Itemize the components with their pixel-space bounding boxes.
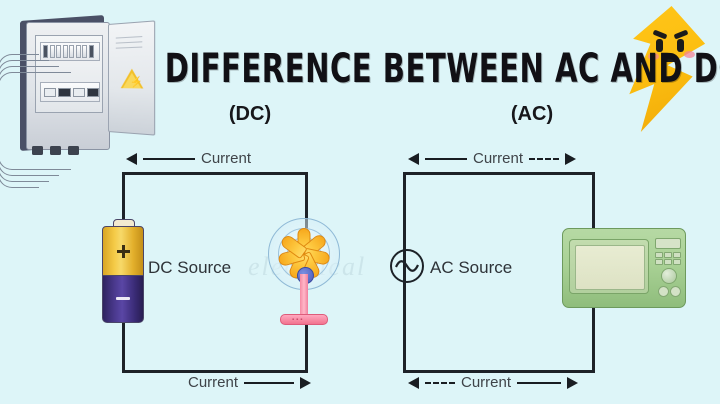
arrow-head-right-icon — [300, 377, 311, 389]
dc-top-current-label: Current — [201, 150, 251, 167]
arrow-head-right-icon — [565, 153, 576, 165]
microwave-dial — [661, 268, 677, 284]
ac-wire-top — [403, 172, 595, 175]
microwave-button — [670, 286, 681, 297]
dc-wire-top — [122, 172, 308, 175]
breaker-row-top — [40, 42, 100, 61]
panel-door: ⚡ — [108, 20, 155, 135]
dc-battery — [102, 219, 144, 323]
ac-source-label: AC Source — [430, 258, 512, 278]
dc-top-current-arrow: Current — [126, 150, 251, 167]
dc-bottom-current-arrow: Current — [188, 374, 311, 391]
microwave-control-panel — [655, 238, 681, 298]
arrow-line-dashed — [425, 382, 455, 384]
electrical-distribution-panel-illustration: ⚡ — [4, 8, 154, 198]
dc-section-label: (DC) — [150, 103, 350, 126]
battery-plus-icon — [117, 245, 130, 258]
arrow-line — [143, 158, 195, 160]
conduit-pipe — [0, 72, 71, 170]
microwave-keypad — [655, 252, 681, 265]
arrow-head-left-icon — [408, 153, 419, 165]
battery-minus-icon — [116, 297, 130, 300]
fan-stand — [300, 274, 308, 318]
arrow-head-left-icon — [408, 377, 419, 389]
fan-base-controls: ▪▪▪ — [292, 317, 304, 323]
arrow-head-right-icon — [567, 377, 578, 389]
arrow-line — [244, 382, 294, 384]
ac-bottom-current-label: Current — [461, 374, 511, 391]
dc-load-fan: ▪▪▪ — [258, 218, 350, 330]
page-title: DIFFERENCE BETWEEN AC AND DC — [165, 46, 626, 92]
microwave-window — [575, 245, 645, 290]
arrow-line — [425, 158, 467, 160]
ac-source-symbol — [390, 249, 424, 283]
ac-top-current-label: Current — [473, 150, 523, 167]
sine-wave-icon — [392, 251, 422, 281]
ac-wire-bottom — [403, 370, 595, 373]
arrow-line-dashed — [529, 158, 559, 160]
dc-source-label: DC Source — [148, 258, 231, 278]
ac-load-microwave — [562, 228, 686, 308]
microwave-display — [655, 238, 681, 249]
microwave-button — [658, 286, 669, 297]
ac-bottom-current-arrow: Current — [408, 374, 578, 391]
microwave-door — [569, 239, 649, 294]
warning-bolt-glyph: ⚡ — [130, 78, 143, 88]
ac-section-label: (AC) — [432, 103, 632, 126]
infographic-canvas: electrical ⚡ — [0, 0, 720, 404]
arrow-head-left-icon — [126, 153, 137, 165]
dc-bottom-current-label: Current — [188, 374, 238, 391]
ac-top-current-arrow: Current — [408, 150, 576, 167]
arrow-line — [517, 382, 561, 384]
dc-wire-bottom — [122, 370, 308, 373]
